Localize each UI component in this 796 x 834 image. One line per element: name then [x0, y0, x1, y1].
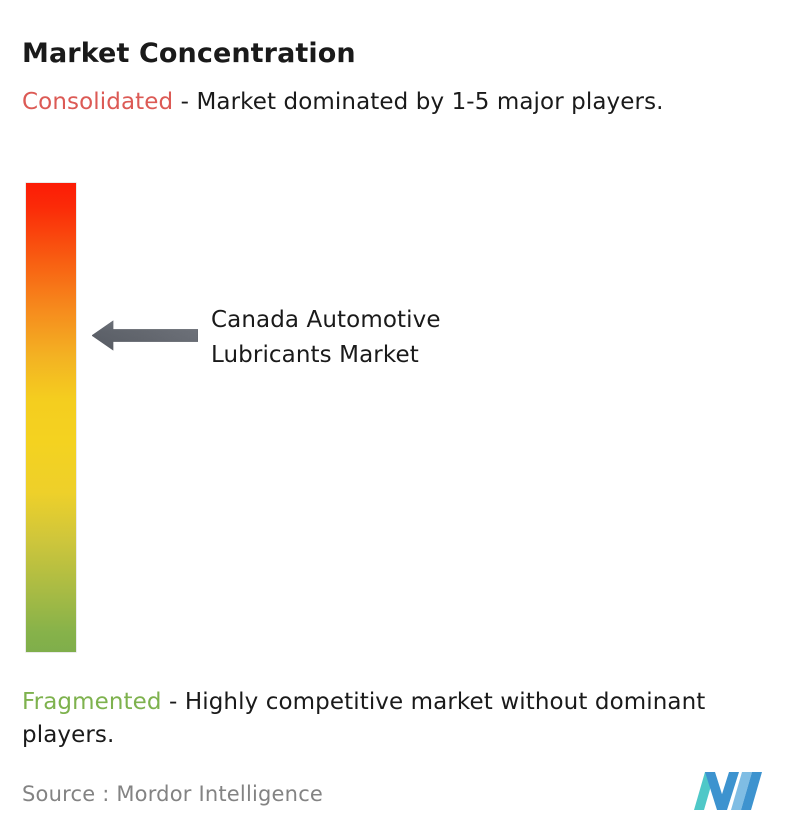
- market-concentration-scale-bar: [26, 183, 76, 652]
- legend-fragmented: Fragmented - Highly competitive market w…: [22, 686, 782, 752]
- left-arrow-icon: [92, 318, 198, 353]
- legend-fragmented-term: Fragmented: [22, 689, 162, 715]
- callout-label: Canada Automotive Lubricants Market: [211, 303, 441, 373]
- left-arrow-svg: [92, 318, 198, 353]
- page-title: Market Concentration: [22, 37, 356, 71]
- legend-consolidated-term: Consolidated: [22, 89, 173, 115]
- mordor-intelligence-logo: [694, 772, 766, 812]
- legend-consolidated-description: Market dominated by 1-5 major players.: [196, 89, 663, 115]
- source-attribution: Source : Mordor Intelligence: [22, 780, 323, 808]
- legend-fragmented-separator: -: [162, 689, 185, 715]
- mordor-intelligence-logo-svg: [694, 772, 766, 812]
- legend-consolidated: Consolidated - Market dominated by 1-5 m…: [22, 86, 772, 119]
- legend-consolidated-separator: -: [173, 89, 196, 115]
